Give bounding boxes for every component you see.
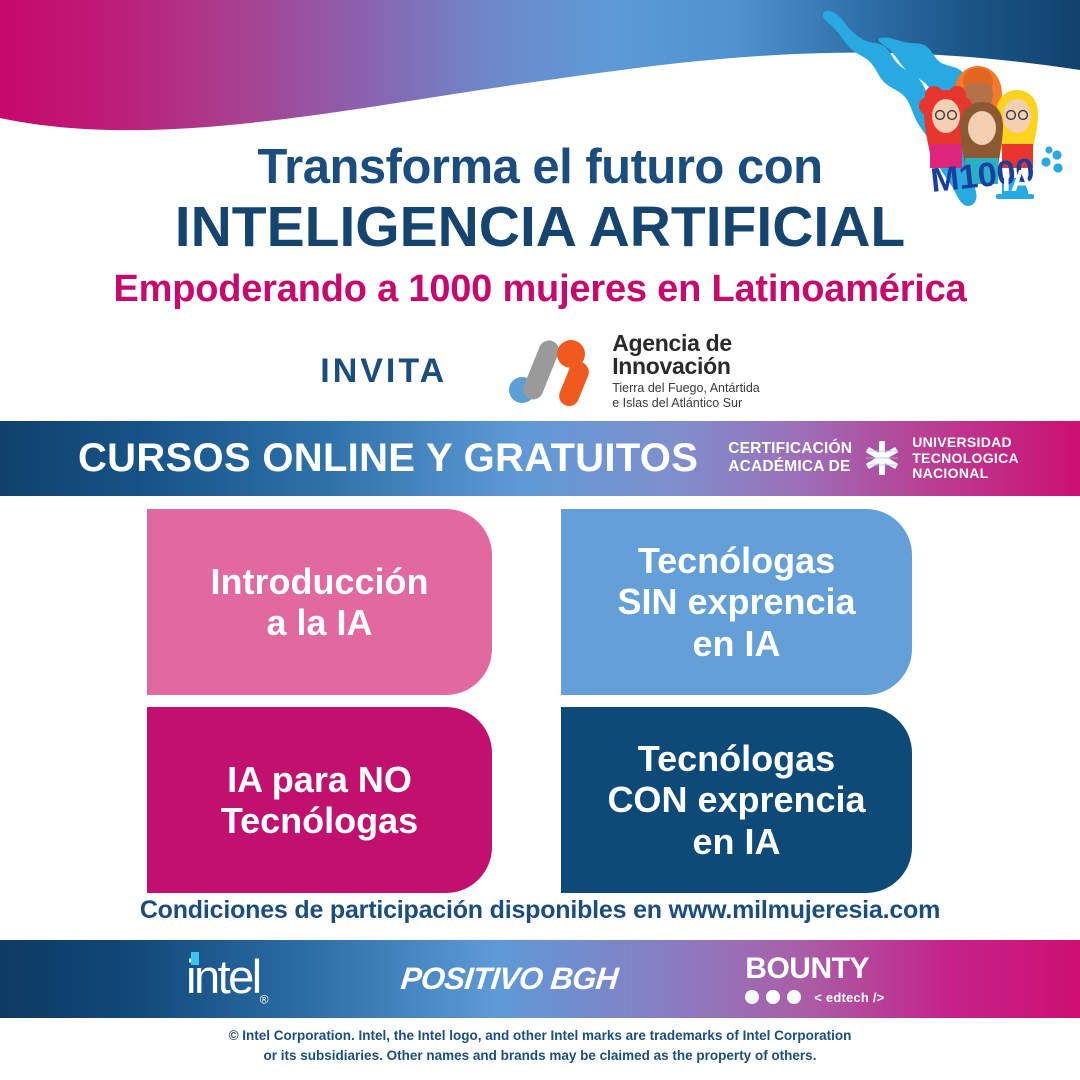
certification-block: CERTIFICACIÓN ACADÉMICA DE [728,435,1019,482]
intel-dot-accent [191,952,199,965]
course-line-3: en IA [607,821,865,862]
positivo-bgh-logo: POSITIVO BGH [399,961,620,997]
copyright-line-2: or its subsidiaries. Other names and bra… [0,1046,1080,1066]
bounty-dot-2 [766,990,780,1004]
course-line-3: en IA [617,623,855,664]
course-cards-grid: Introducción a la IA IA para NO Tecnólog… [0,509,1080,889]
course-line-2: SIN exprencia [617,581,855,622]
bounty-dot-3 [787,990,801,1004]
sponsor-bar: intel® POSITIVO BGH BOUNTY < edtech /> [0,940,1080,1018]
headline-block: Transforma el futuro con INTELIGENCIA AR… [0,143,1080,311]
course-line-1: Tecnólogas [607,738,865,779]
bounty-wordmark: BOUNTY [745,954,884,984]
agencia-innovacion-logo: Agencia de Innovación Tierra del Fuego, … [505,332,760,412]
course-line-1: IA para NO [221,759,418,800]
course-card-tecnologas-con-exprencia[interactable]: Tecnólogas CON exprencia en IA [561,707,912,893]
utn-text-block: UNIVERSIDAD TECNOLOGICA NACIONAL [912,435,1019,482]
course-line-2: CON exprencia [607,779,865,820]
course-line-2: a la IA [211,602,429,643]
bounty-sub-row: < edtech /> [745,990,884,1005]
certification-line-1: CERTIFICACIÓN [728,440,852,458]
invita-row: INVITA Agencia de Innovación Tierra del … [0,332,1080,412]
utn-logo-icon [864,440,900,476]
course-line-1: Tecnólogas [617,540,855,581]
copyright-block: © Intel Corporation. Intel, the Intel lo… [0,1026,1080,1065]
agencia-name-line-2: Innovación [612,355,760,378]
certification-text: CERTIFICACIÓN ACADÉMICA DE [728,440,852,477]
course-card-tecnologas-sin-exprencia[interactable]: Tecnólogas SIN exprencia en IA [561,509,912,695]
utn-line-3: NACIONAL [912,466,1019,482]
certification-line-2: ACADÉMICA DE [728,458,852,476]
conditions-text[interactable]: Condiciones de participación disponibles… [0,896,1080,925]
headline-line-2: INTELIGENCIA ARTIFICIAL [0,197,1080,257]
invita-label: INVITA [320,352,447,391]
headline-line-3: Empoderando a 1000 mujeres en Latinoamér… [0,269,1080,311]
course-card-label: IA para NO Tecnólogas [221,759,418,842]
headline-line-1: Transforma el futuro con [0,143,1080,193]
courses-banner-title: CURSOS ONLINE Y GRATUITOS [78,436,698,481]
bounty-dot-1 [745,990,759,1004]
course-card-label: Tecnólogas SIN exprencia en IA [617,540,855,664]
agencia-subtitle-line-2: e Islas del Atlántico Sur [612,396,760,411]
utn-line-1: UNIVERSIDAD [912,435,1019,451]
intel-logo: intel® [186,953,269,1005]
course-line-2: Tecnólogas [221,800,418,841]
agencia-subtitle: Tierra del Fuego, Antártida e Islas del … [612,381,760,412]
agencia-text-block: Agencia de Innovación Tierra del Fuego, … [612,332,760,412]
course-line-1: Introducción [211,561,429,602]
agencia-subtitle-line-1: Tierra del Fuego, Antártida [612,381,760,396]
copyright-line-1: © Intel Corporation. Intel, the Intel lo… [0,1026,1080,1046]
courses-banner: CURSOS ONLINE Y GRATUITOS CERTIFICACIÓN … [0,421,1080,496]
course-card-label: Introducción a la IA [211,561,429,644]
agencia-name-line-1: Agencia de [612,332,760,355]
bounty-dots-icon [745,990,801,1004]
course-card-introduccion-ia[interactable]: Introducción a la IA [147,509,492,695]
agencia-mark-icon [505,335,601,409]
bounty-logo: BOUNTY < edtech /> [745,954,884,1005]
bounty-tagline: < edtech /> [814,990,884,1005]
course-card-ia-para-no-tecnologas[interactable]: IA para NO Tecnólogas [147,707,492,893]
utn-line-2: TECNOLOGICA [912,451,1019,467]
course-card-label: Tecnólogas CON exprencia en IA [607,738,865,862]
poster-canvas: M1000 IA Transforma el futuro con INTELI… [0,0,1080,1080]
intel-registered-mark: ® [260,992,269,1006]
